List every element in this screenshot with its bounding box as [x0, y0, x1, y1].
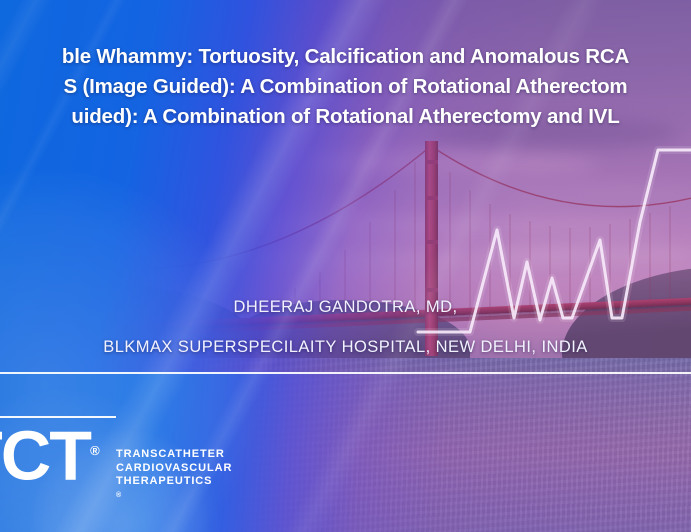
title-line-3: uided): A Combination of Rotational Athe… [0, 102, 691, 132]
tct-wordmark: TCT® [0, 414, 100, 492]
tagline-line-1: TRANSCATHETER [116, 448, 232, 462]
tct-logo: RF® TCT® TRANSCATHETER CARDIOVASCULAR TH… [0, 388, 286, 508]
presenter-affiliation: BLKMAX SUPERSPECILAITY HOSPITAL, NEW DEL… [0, 338, 691, 357]
horizontal-divider [0, 372, 691, 374]
presenter-name: DHEERAJ GANDOTRA, MD, [0, 298, 691, 317]
tagline-line-3-text: THERAPEUTICS [116, 475, 232, 489]
title-line-1: ble Whammy: Tortuosity, Calcification an… [0, 42, 691, 72]
title-line-2: S (Image Guided): A Combination of Rotat… [0, 72, 691, 102]
tct-tagline: TRANSCATHETER CARDIOVASCULAR THERAPEUTIC… [116, 448, 232, 506]
slide-title: ble Whammy: Tortuosity, Calcification an… [0, 42, 691, 132]
tagline-line-2: CARDIOVASCULAR [116, 462, 232, 476]
presentation-title-slide: ble Whammy: Tortuosity, Calcification an… [0, 0, 691, 532]
tct-text: TCT [0, 416, 90, 494]
tagline-line-3: THERAPEUTICS® [116, 475, 232, 506]
tagline-registered-icon: ® [116, 492, 122, 499]
tct-registered-icon: ® [90, 443, 100, 458]
